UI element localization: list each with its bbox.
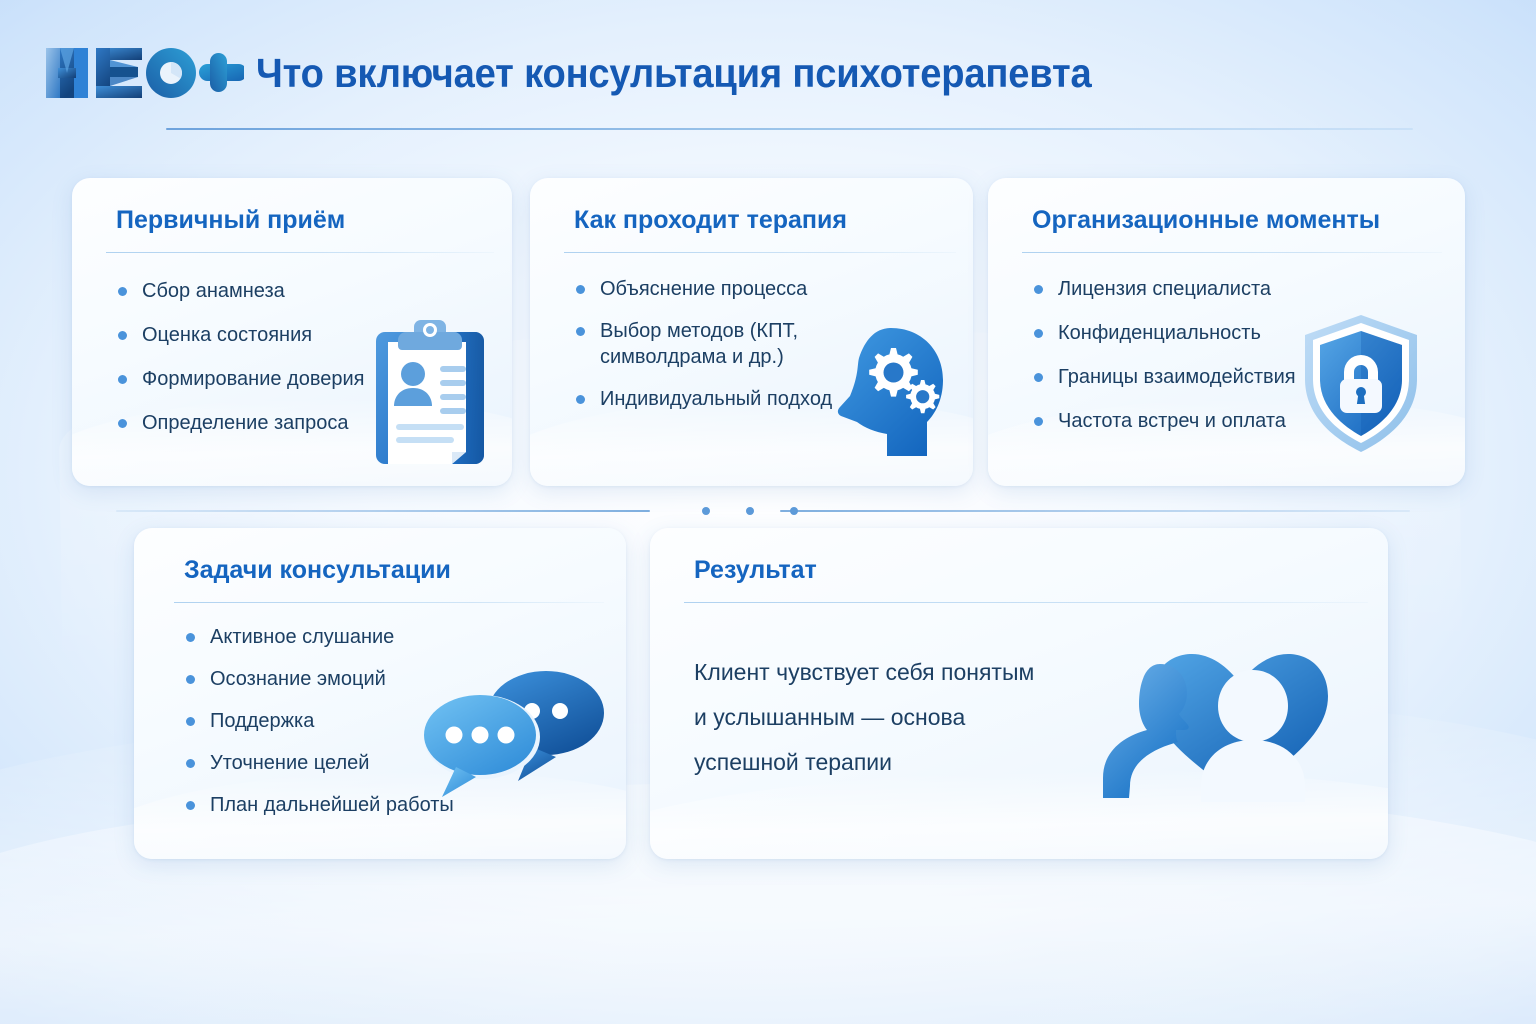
list-item: Сбор анамнеза [116, 278, 456, 304]
card-title: Как проходит терапия [574, 206, 847, 235]
card-title: Результат [694, 556, 817, 585]
bullet-dot-icon [186, 633, 195, 642]
page-title: Что включает консультация психотерапевта [256, 42, 1091, 104]
card-therapy-process[interactable]: Как проходит терапия Объяснение процесса… [530, 178, 973, 486]
bullet-dot-icon [1034, 373, 1043, 382]
list-item: Конфиденциальность [1032, 320, 1342, 346]
bullet-list: Лицензия специалиста Конфиденциальность … [1032, 276, 1342, 452]
card-organizational[interactable]: Организационные моменты Лицензия специал… [988, 178, 1465, 486]
bullet-dot-icon [186, 759, 195, 768]
card-title: Организационные моменты [1032, 206, 1380, 235]
three-dots-divider [116, 505, 1410, 517]
list-item: Поддержка [184, 708, 514, 734]
divider-line-left [116, 510, 650, 512]
list-item: Определение запроса [116, 410, 456, 436]
card-title: Первичный приём [116, 206, 345, 235]
bullet-dot-icon [1034, 417, 1043, 426]
bullet-list: Активное слушание Осознание эмоций Подде… [184, 624, 514, 834]
card-primary-appointment[interactable]: Первичный приём Сбор анамнеза Оценка сос… [72, 178, 512, 486]
list-item: Частота встреч и оплата [1032, 408, 1342, 434]
divider-line-right [780, 510, 1410, 512]
card-consultation-goals[interactable]: Задачи консультации Активное слушание Ос… [134, 528, 626, 859]
bullet-dot-icon [1034, 285, 1043, 294]
list-item: Выбор методов (КПТ,символдрама и др.) [574, 318, 856, 370]
list-item: Активное слушание [184, 624, 514, 650]
card-title-divider [106, 252, 494, 253]
bullet-list: Объяснение процесса Выбор методов (КПТ,с… [574, 276, 856, 428]
card-title-divider [564, 252, 956, 253]
list-item: Формирование доверия [116, 366, 456, 392]
list-item: Лицензия специалиста [1032, 276, 1342, 302]
divider-dot-icon [746, 507, 754, 515]
header: Что включает консультация психотерапевта [44, 38, 1414, 138]
bullet-dot-icon [1034, 329, 1043, 338]
divider-dot-icon [702, 507, 710, 515]
bullet-dot-icon [118, 287, 127, 296]
card-title-divider [174, 602, 604, 603]
result-paragraph: Клиент чувствует себя понятым и услышанн… [694, 650, 1114, 785]
bullet-dot-icon [576, 327, 585, 336]
couple-heart-icon [1090, 626, 1360, 811]
card-result[interactable]: Результат Клиент чувствует себя понятым … [650, 528, 1388, 859]
list-item: Границы взаимодействия [1032, 364, 1342, 390]
list-item: Уточнение целей [184, 750, 514, 776]
card-title-divider [1022, 252, 1442, 253]
list-item: Осознание эмоций [184, 666, 514, 692]
card-title-divider [684, 602, 1368, 603]
bullet-dot-icon [118, 375, 127, 384]
list-item: Индивидуальный подход [574, 386, 856, 412]
bullet-list: Сбор анамнеза Оценка состояния Формирова… [116, 278, 456, 454]
list-item: План дальнейшей работы [184, 792, 514, 818]
bullet-dot-icon [186, 675, 195, 684]
neo-plus-logo [44, 42, 244, 104]
bullet-dot-icon [186, 717, 195, 726]
header-divider [166, 128, 1413, 130]
infographic-canvas: Что включает консультация психотерапевта… [0, 0, 1536, 1024]
bullet-dot-icon [576, 285, 585, 294]
bullet-dot-icon [118, 331, 127, 340]
card-title: Задачи консультации [184, 556, 451, 585]
bullet-dot-icon [118, 419, 127, 428]
list-item: Оценка состояния [116, 322, 456, 348]
bullet-dot-icon [186, 801, 195, 810]
list-item: Объяснение процесса [574, 276, 856, 302]
bullet-dot-icon [576, 395, 585, 404]
